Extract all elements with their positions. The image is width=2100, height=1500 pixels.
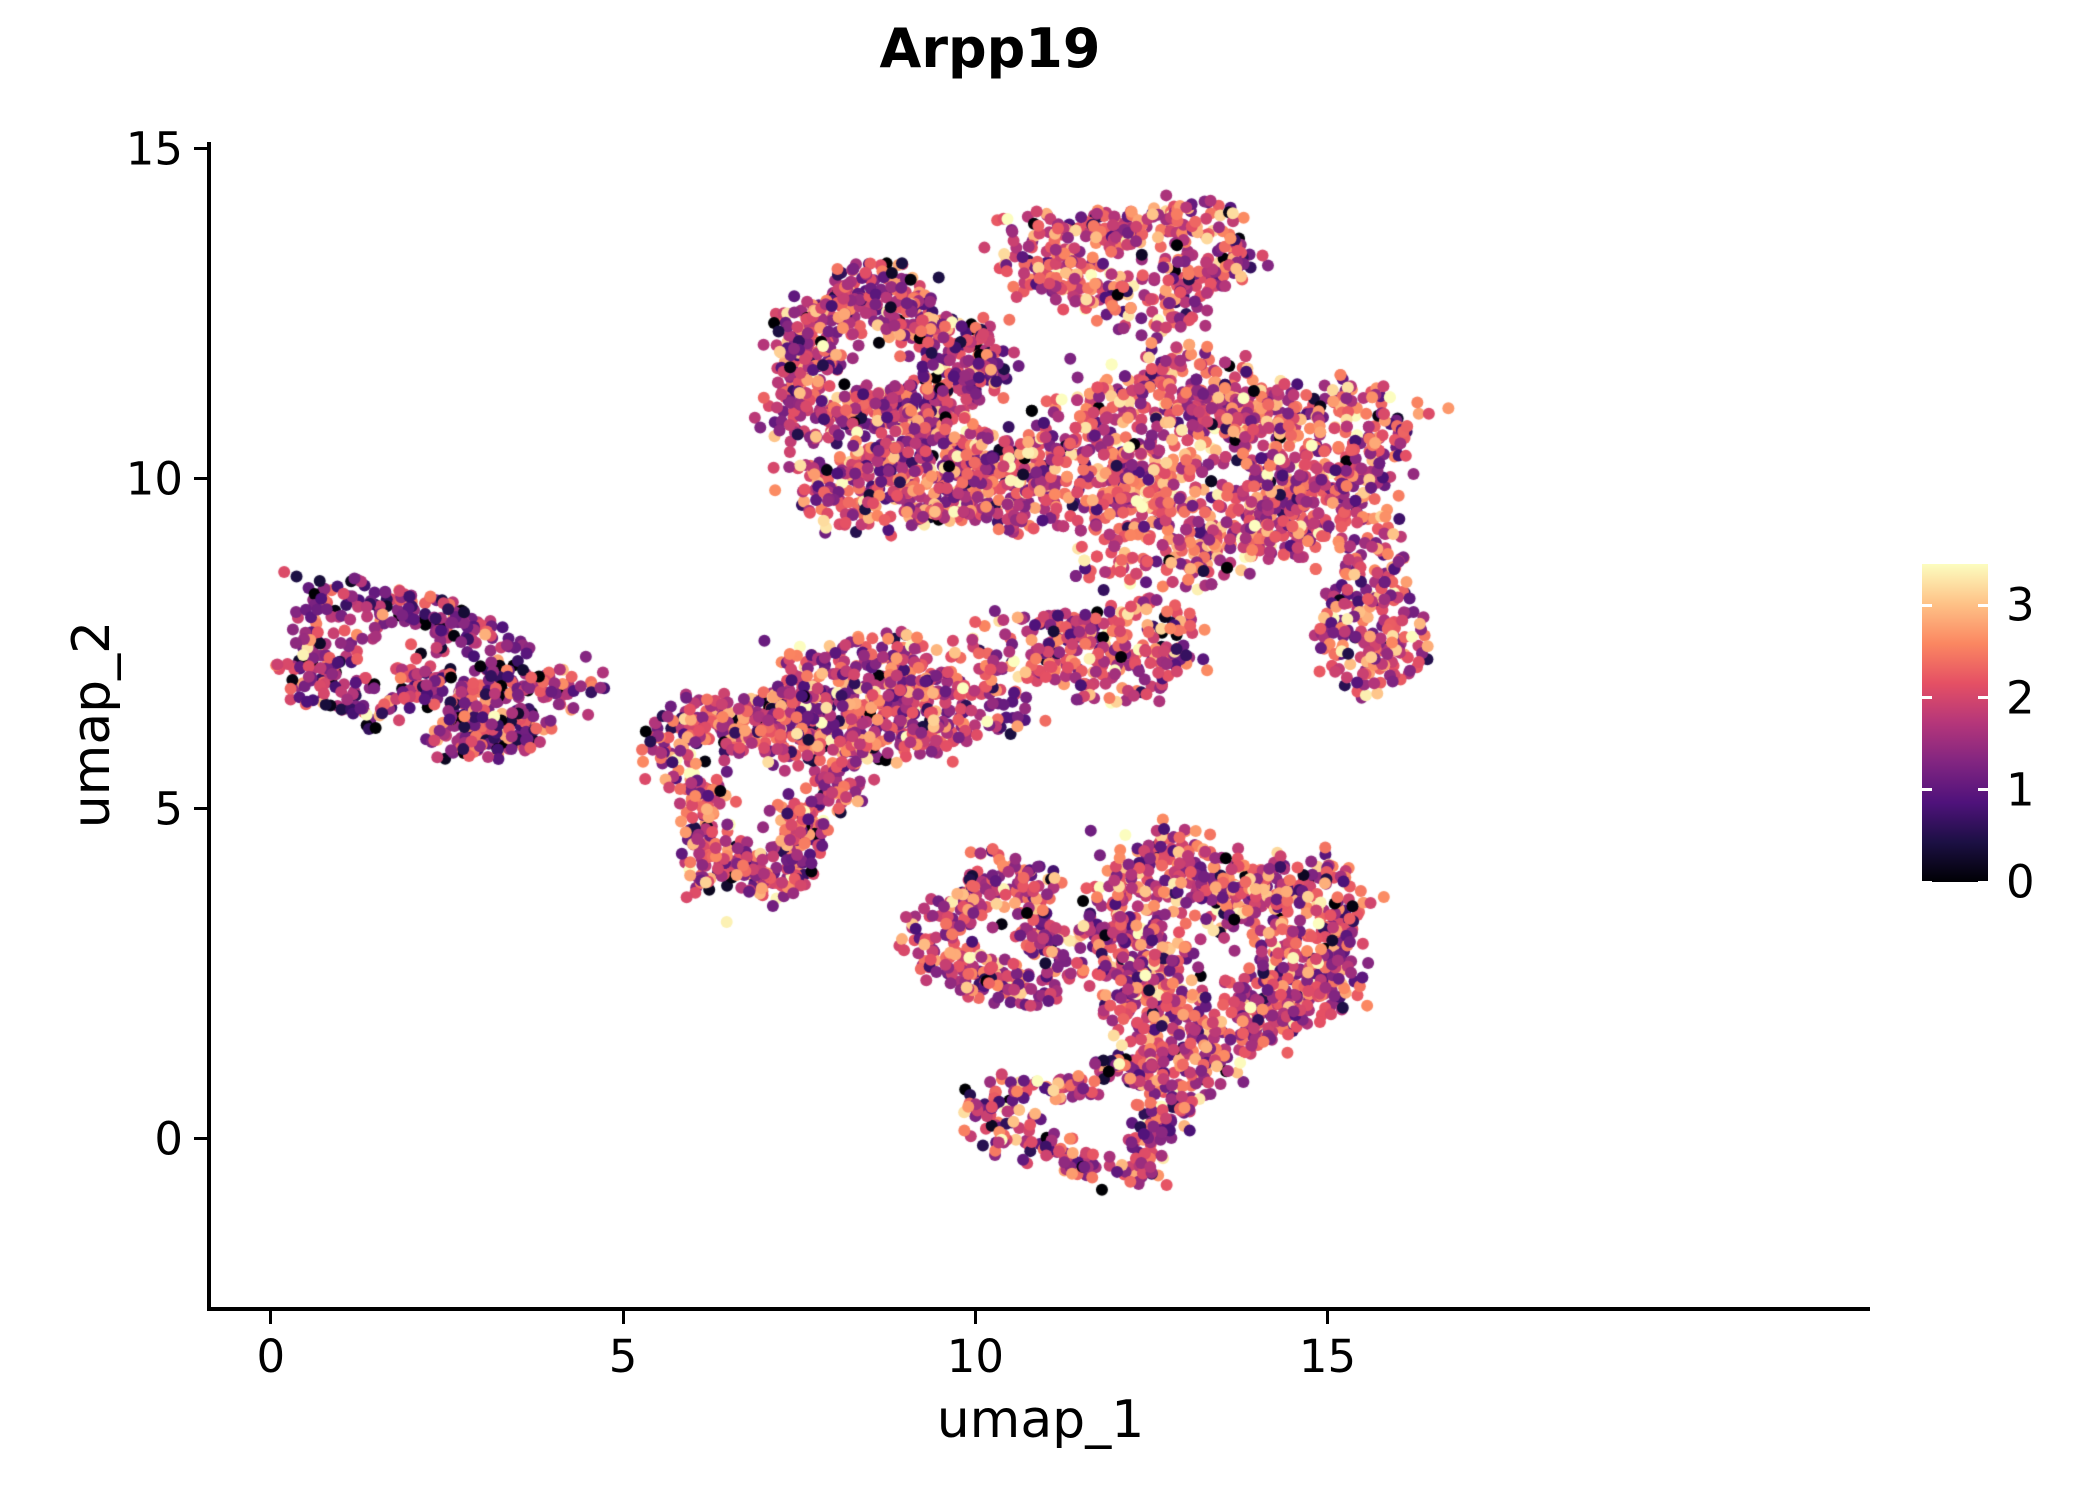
- x-tick-mark: [269, 1311, 272, 1324]
- colorbar-tick-mark: [1978, 604, 1988, 607]
- x-tick-label: 0: [257, 1330, 286, 1383]
- x-tick-label: 10: [947, 1330, 1004, 1383]
- y-axis-label: umap_2: [62, 142, 122, 1307]
- x-tick-mark: [1326, 1311, 1329, 1324]
- y-tick-mark: [194, 147, 207, 150]
- y-tick-label: 15: [126, 122, 183, 175]
- y-tick-label: 5: [154, 782, 183, 835]
- y-tick-mark: [194, 477, 207, 480]
- page-title: Arpp19: [0, 22, 2040, 76]
- colorbar-tick-mark: [1978, 696, 1988, 699]
- y-axis-spine: [207, 142, 211, 1307]
- y-tick-mark: [194, 1137, 207, 1140]
- colorbar: 0123: [1922, 564, 1988, 882]
- colorbar-tick-label: 3: [2006, 579, 2035, 632]
- colorbar-gradient: [1922, 564, 1988, 882]
- colorbar-tick-mark: [1922, 881, 1932, 884]
- colorbar-tick-mark: [1978, 881, 1988, 884]
- colorbar-tick-mark: [1922, 696, 1932, 699]
- colorbar-tick-label: 2: [2006, 671, 2035, 724]
- colorbar-tick-label: 0: [2006, 856, 2035, 909]
- x-tick-label: 5: [609, 1330, 638, 1383]
- colorbar-tick-mark: [1922, 788, 1932, 791]
- colorbar-tick-label: 1: [2006, 763, 2035, 816]
- x-tick-mark: [622, 1311, 625, 1324]
- scatter-points-canvas: [211, 142, 1870, 1307]
- colorbar-tick-mark: [1978, 788, 1988, 791]
- umap-scatter-figure: Arpp19 051015 051015 umap_1 umap_2 0123: [0, 0, 2100, 1500]
- x-tick-label: 15: [1299, 1330, 1356, 1383]
- colorbar-tick-mark: [1922, 604, 1932, 607]
- y-tick-mark: [194, 807, 207, 810]
- x-axis-spine: [207, 1307, 1870, 1311]
- plot-axes: 051015 051015: [211, 142, 1870, 1307]
- x-tick-mark: [974, 1311, 977, 1324]
- y-tick-label: 0: [154, 1112, 183, 1165]
- y-tick-label: 10: [126, 452, 183, 505]
- x-axis-label: umap_1: [211, 1390, 1870, 1450]
